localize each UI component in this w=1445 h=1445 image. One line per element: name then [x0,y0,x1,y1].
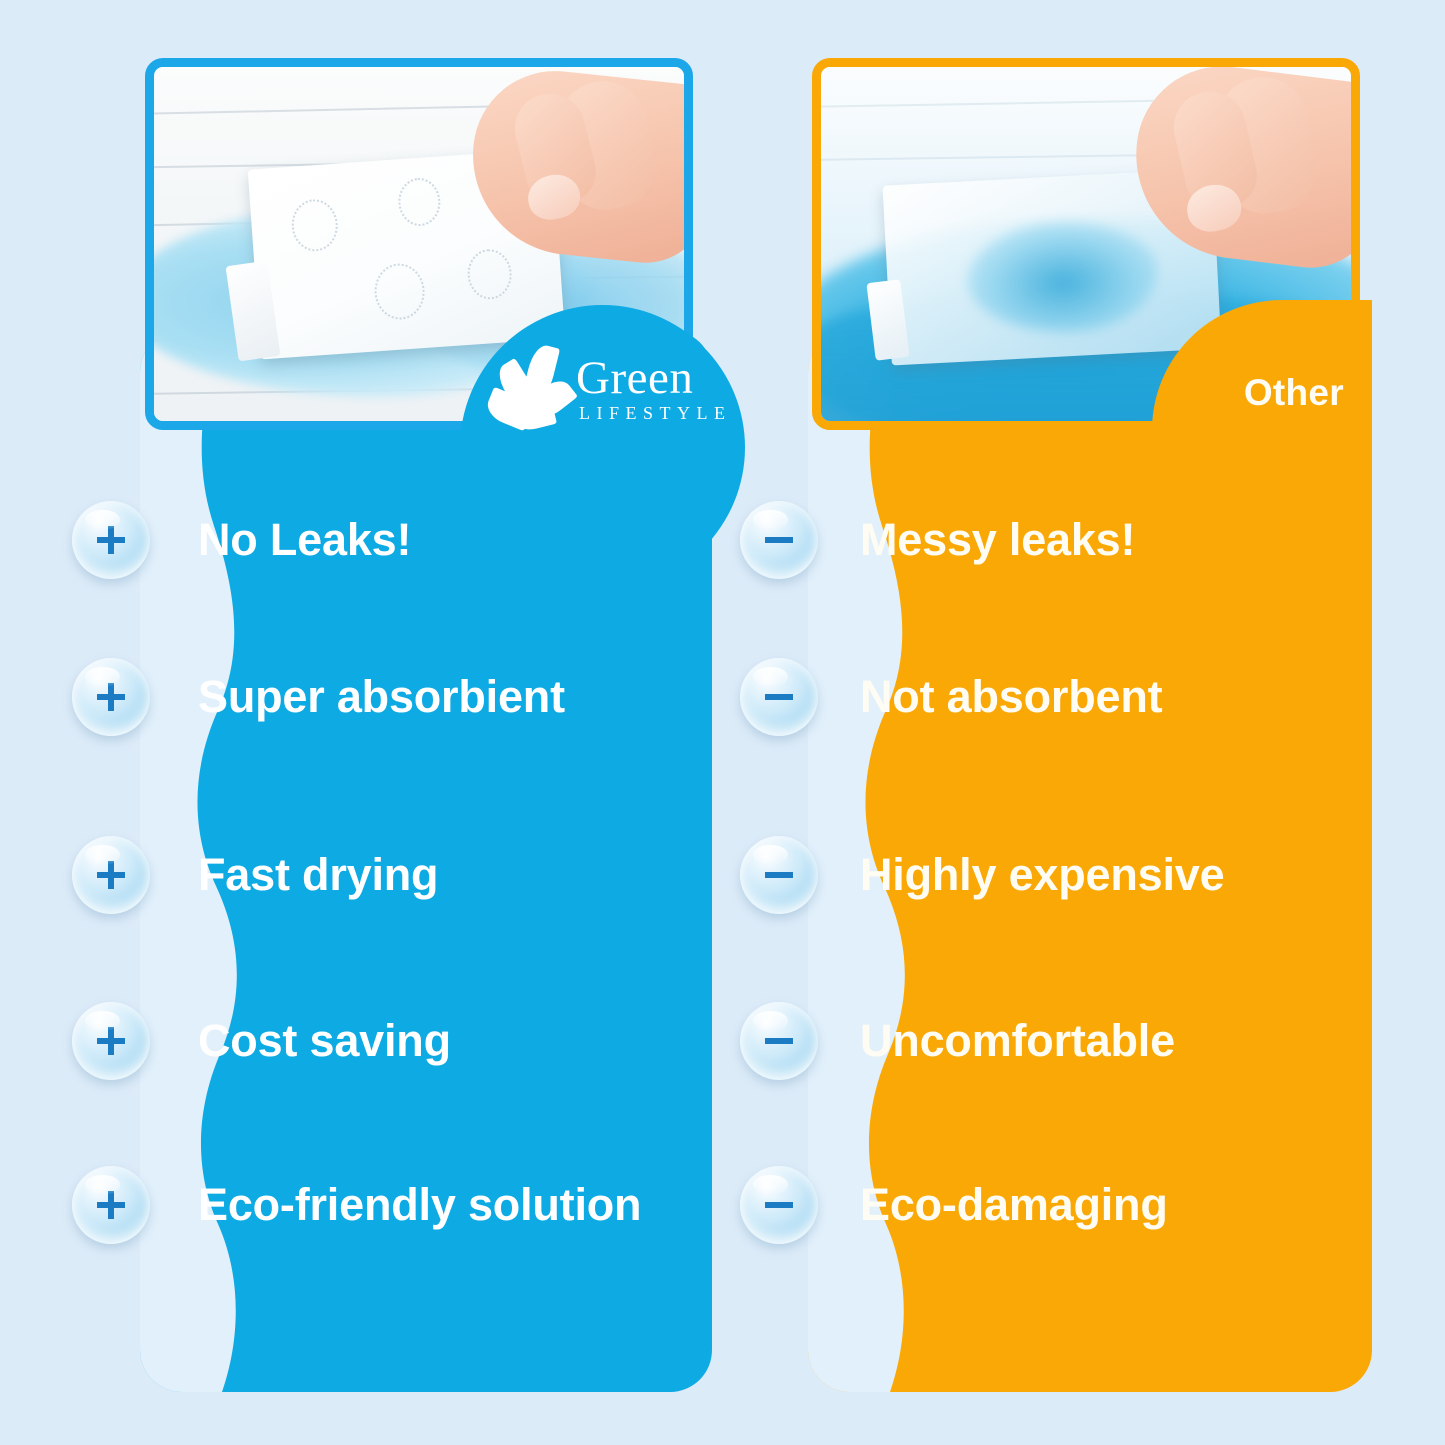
feature-row-other-2: Not absorbent [740,661,1376,733]
feature-row-other-3: Highly expensive [740,839,1376,911]
feature-label: Cost saving [198,1015,451,1067]
feature-row-other-4: Uncomfortable [740,1005,1376,1077]
minus-badge-icon [740,658,818,736]
feature-label: Highly expensive [860,849,1224,901]
feature-row-good-2: Super absorbient [72,661,712,733]
feature-row-other-1: Messy leaks! [740,504,1376,576]
feature-label: Fast drying [198,849,438,901]
feature-label: Super absorbient [198,671,565,723]
logo-tagline: LIFESTYLE [579,403,732,424]
other-label-corner: Other [1152,300,1372,432]
feature-label: Uncomfortable [860,1015,1175,1067]
comparison-infographic: Green ™ LIFESTYLE Other No Leaks! Super … [0,0,1445,1445]
feature-row-good-5: Eco-friendly solution [72,1169,712,1241]
minus-badge-icon [740,1166,818,1244]
feature-label: Eco-friendly solution [198,1179,641,1231]
plus-badge-icon [72,836,150,914]
feature-label: Not absorbent [860,671,1162,723]
feature-label: Messy leaks! [860,514,1135,566]
trademark-symbol: ™ [712,341,725,356]
plus-badge-icon [72,501,150,579]
feature-row-good-3: Fast drying [72,839,712,911]
feature-row-other-5: Eco-damaging [740,1169,1376,1241]
plus-badge-icon [72,658,150,736]
minus-badge-icon [740,501,818,579]
plus-badge-icon [72,1002,150,1080]
feature-row-good-4: Cost saving [72,1005,712,1077]
plus-badge-icon [72,1166,150,1244]
feature-row-good-1: No Leaks! [72,504,712,576]
leaf-icon [498,347,572,433]
feature-label: No Leaks! [198,514,411,566]
feature-label: Eco-damaging [860,1179,1168,1231]
other-heading: Other [1244,372,1344,414]
minus-badge-icon [740,836,818,914]
logo-wordmark: Green [576,356,732,401]
minus-badge-icon [740,1002,818,1080]
